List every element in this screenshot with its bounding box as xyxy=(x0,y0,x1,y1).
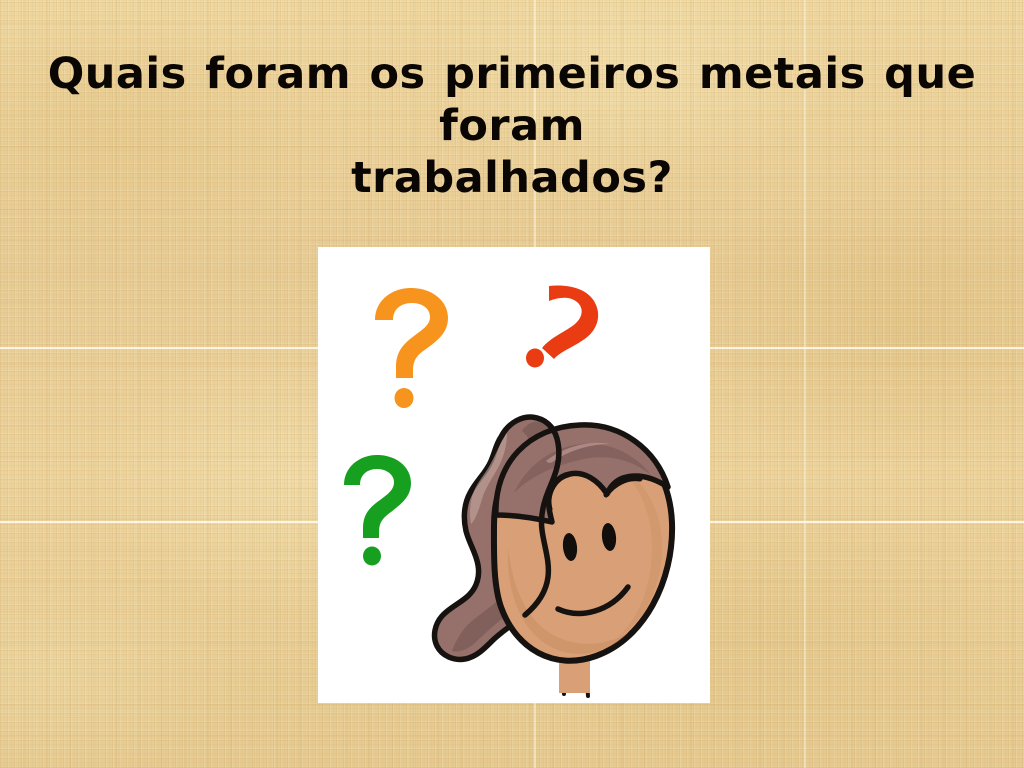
slide-canvas: Quais foram os primeiros metais que fora… xyxy=(0,0,1024,768)
clipart-image[interactable] xyxy=(318,247,710,703)
slide-title: Quais foram os primeiros metais que fora… xyxy=(8,48,1016,204)
